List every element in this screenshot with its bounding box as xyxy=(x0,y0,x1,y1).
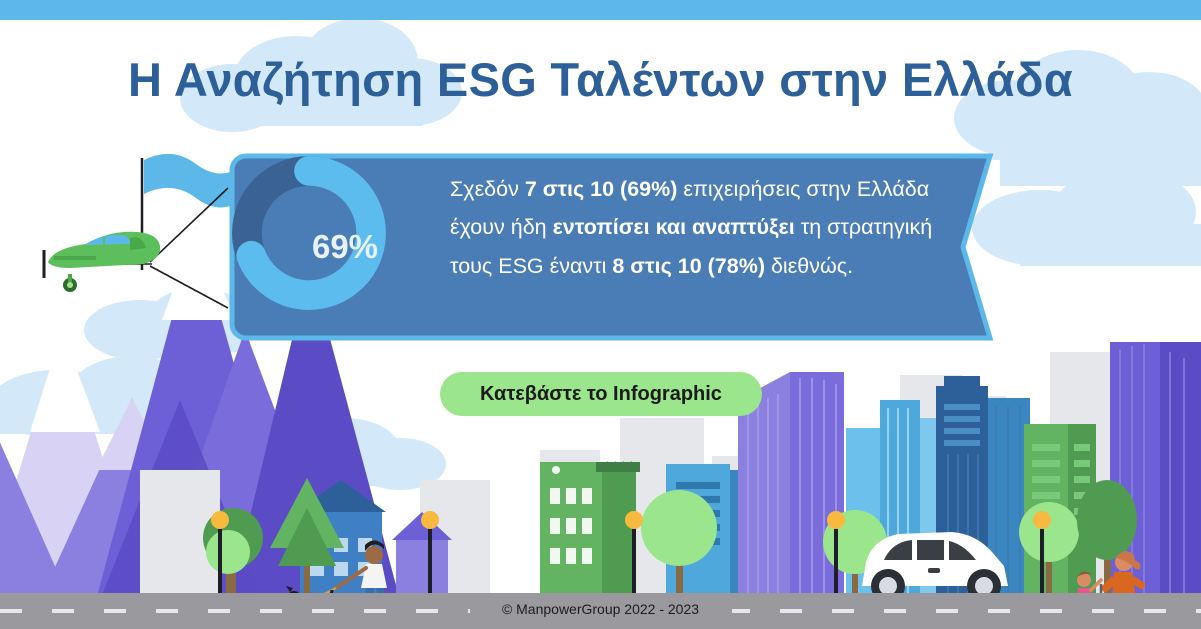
text-bold-2: εντοπίσει και αναπτύξει xyxy=(553,215,795,239)
stat-banner-panel: 69% Σχεδόν 7 στις 10 (69%) επιχειρήσεις … xyxy=(228,152,1008,342)
page-title: Η Αναζήτηση ESG Ταλέντων στην Ελλάδα xyxy=(0,52,1201,107)
infographic-page: Η Αναζήτηση ESG Ταλέντων στην Ελλάδα 69%… xyxy=(0,0,1201,629)
text-bold-1: 7 στις 10 (69%) xyxy=(525,177,678,201)
banner-paragraph: Σχεδόν 7 στις 10 (69%) επιχειρήσεις στην… xyxy=(450,170,962,285)
text-part-4: διεθνώς. xyxy=(765,254,853,278)
download-infographic-button[interactable]: Κατεβάστε το Infographic xyxy=(440,372,762,416)
text-part-1: Σχεδόν xyxy=(450,177,525,201)
top-accent-bar xyxy=(0,0,1201,20)
text-bold-3: 8 στις 10 (78%) xyxy=(612,254,765,278)
footer-copyright: © ManpowerGroup 2022 - 2023 xyxy=(0,601,1201,617)
donut-value-label: 69% xyxy=(264,166,426,328)
